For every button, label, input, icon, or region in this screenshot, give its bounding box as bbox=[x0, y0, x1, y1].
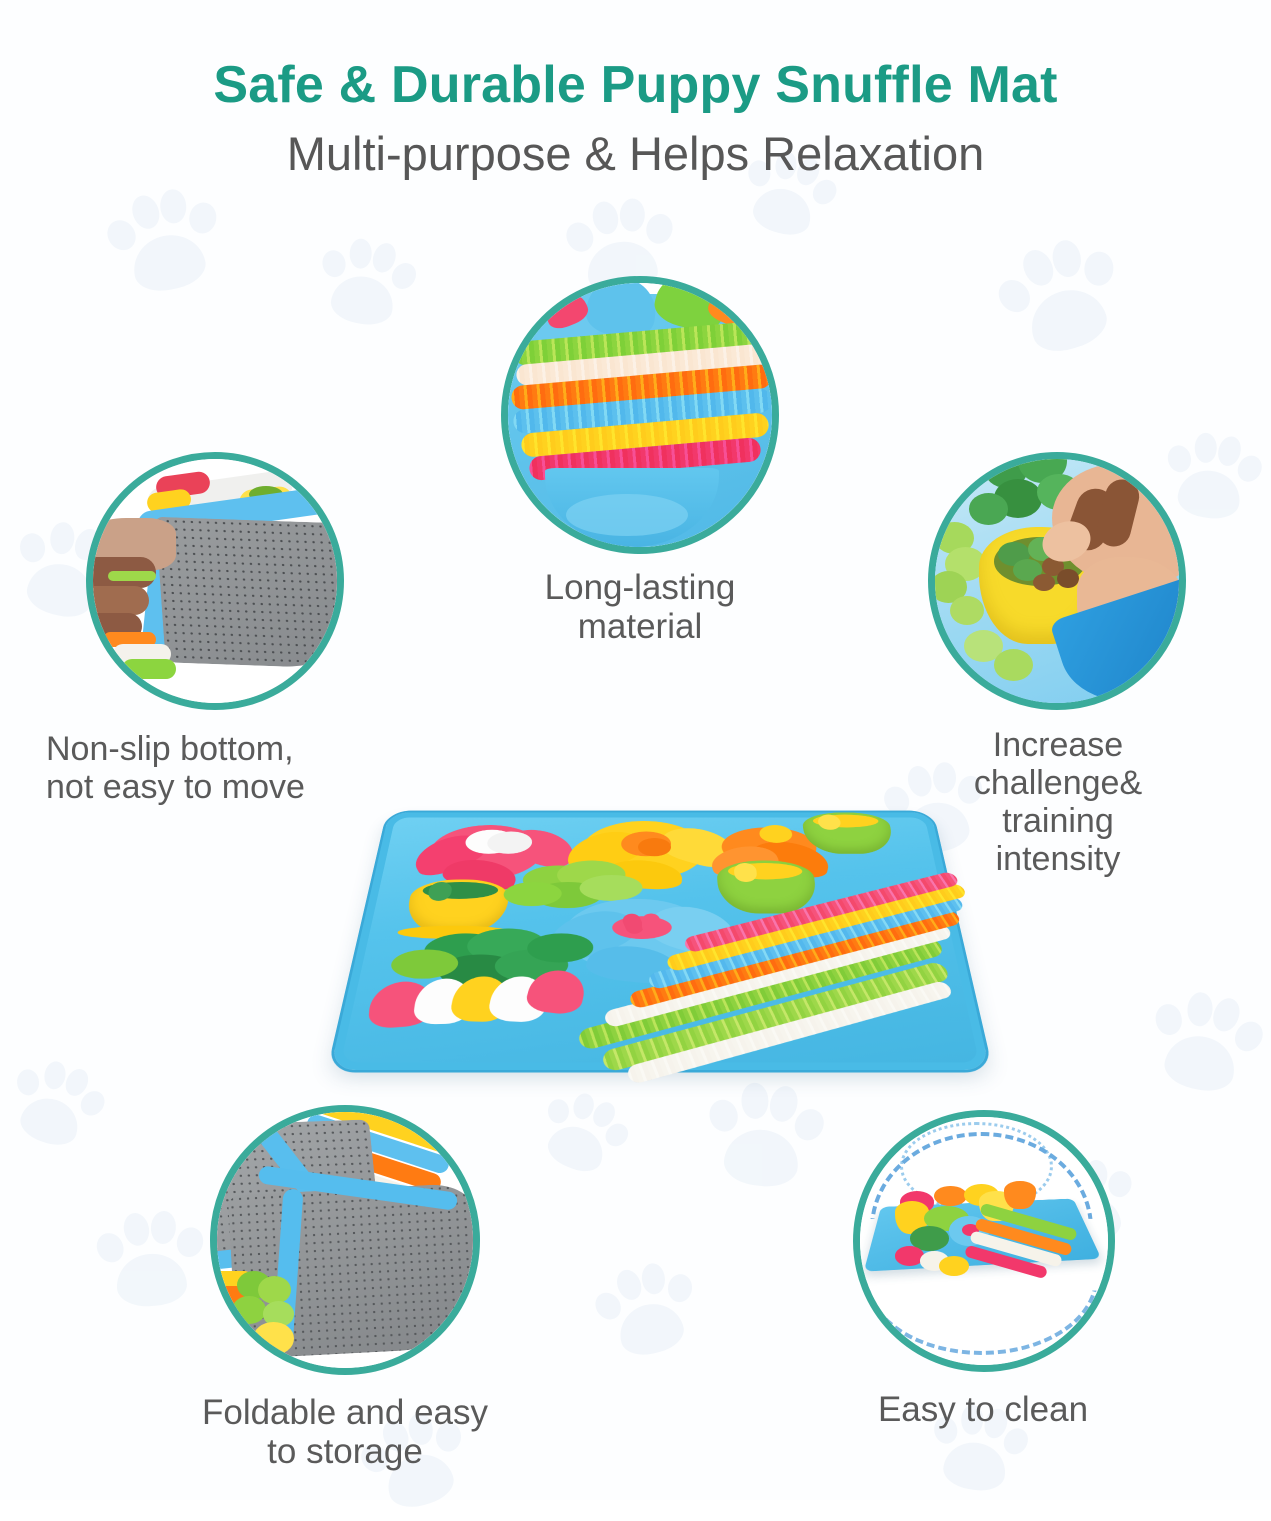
paw-print-icon bbox=[528, 1079, 638, 1185]
feature-foldable-storage: Foldable and easy to storage bbox=[210, 1105, 480, 1471]
feature-caption-increase-challenge: Increase challenge& training intensity bbox=[908, 726, 1208, 878]
paw-print-icon bbox=[98, 177, 229, 302]
feature-photo-long-lasting-material bbox=[501, 276, 779, 554]
hero-product-photo bbox=[330, 700, 990, 1070]
photo-hand-filling-cup bbox=[935, 459, 1179, 703]
header: Safe & Durable Puppy Snuffle Mat Multi-p… bbox=[0, 0, 1271, 178]
page-subtitle: Multi-purpose & Helps Relaxation bbox=[0, 129, 1271, 178]
feature-easy-to-clean: Easy to clean bbox=[853, 1110, 1115, 1429]
photo-mat-with-water-splash bbox=[860, 1117, 1108, 1365]
photo-folded-mat bbox=[217, 1112, 473, 1368]
paw-print-icon bbox=[1141, 980, 1270, 1103]
paw-print-icon bbox=[0, 1048, 113, 1158]
feature-photo-easy-to-clean bbox=[853, 1110, 1115, 1372]
paw-print-icon bbox=[701, 1074, 828, 1194]
photo-nonslip-backing bbox=[93, 459, 337, 703]
snuffle-mat-attachments bbox=[330, 812, 990, 1070]
feature-photo-foldable-storage bbox=[210, 1105, 480, 1375]
feature-non-slip-bottom: Non-slip bottom, not easy to move bbox=[86, 452, 344, 806]
paw-print-icon bbox=[586, 1251, 706, 1366]
feature-caption-foldable-storage: Foldable and easy to storage bbox=[160, 1393, 530, 1471]
page-title: Safe & Durable Puppy Snuffle Mat bbox=[0, 58, 1271, 113]
feature-photo-increase-challenge bbox=[928, 452, 1186, 710]
feature-caption-long-lasting-material: Long-lasting material bbox=[501, 568, 779, 646]
feature-caption-easy-to-clean: Easy to clean bbox=[813, 1390, 1153, 1429]
photo-ruffle-closeup bbox=[508, 283, 772, 547]
paw-print-icon bbox=[986, 224, 1135, 368]
feature-photo-non-slip-bottom bbox=[86, 452, 344, 710]
paw-print-icon bbox=[93, 1204, 208, 1311]
feature-long-lasting-material: Long-lasting material bbox=[501, 276, 779, 646]
paw-print-icon bbox=[311, 228, 421, 333]
feature-caption-non-slip-bottom: Non-slip bottom, not easy to move bbox=[46, 730, 376, 806]
feature-increase-challenge: Increase challenge& training intensity bbox=[928, 452, 1186, 878]
